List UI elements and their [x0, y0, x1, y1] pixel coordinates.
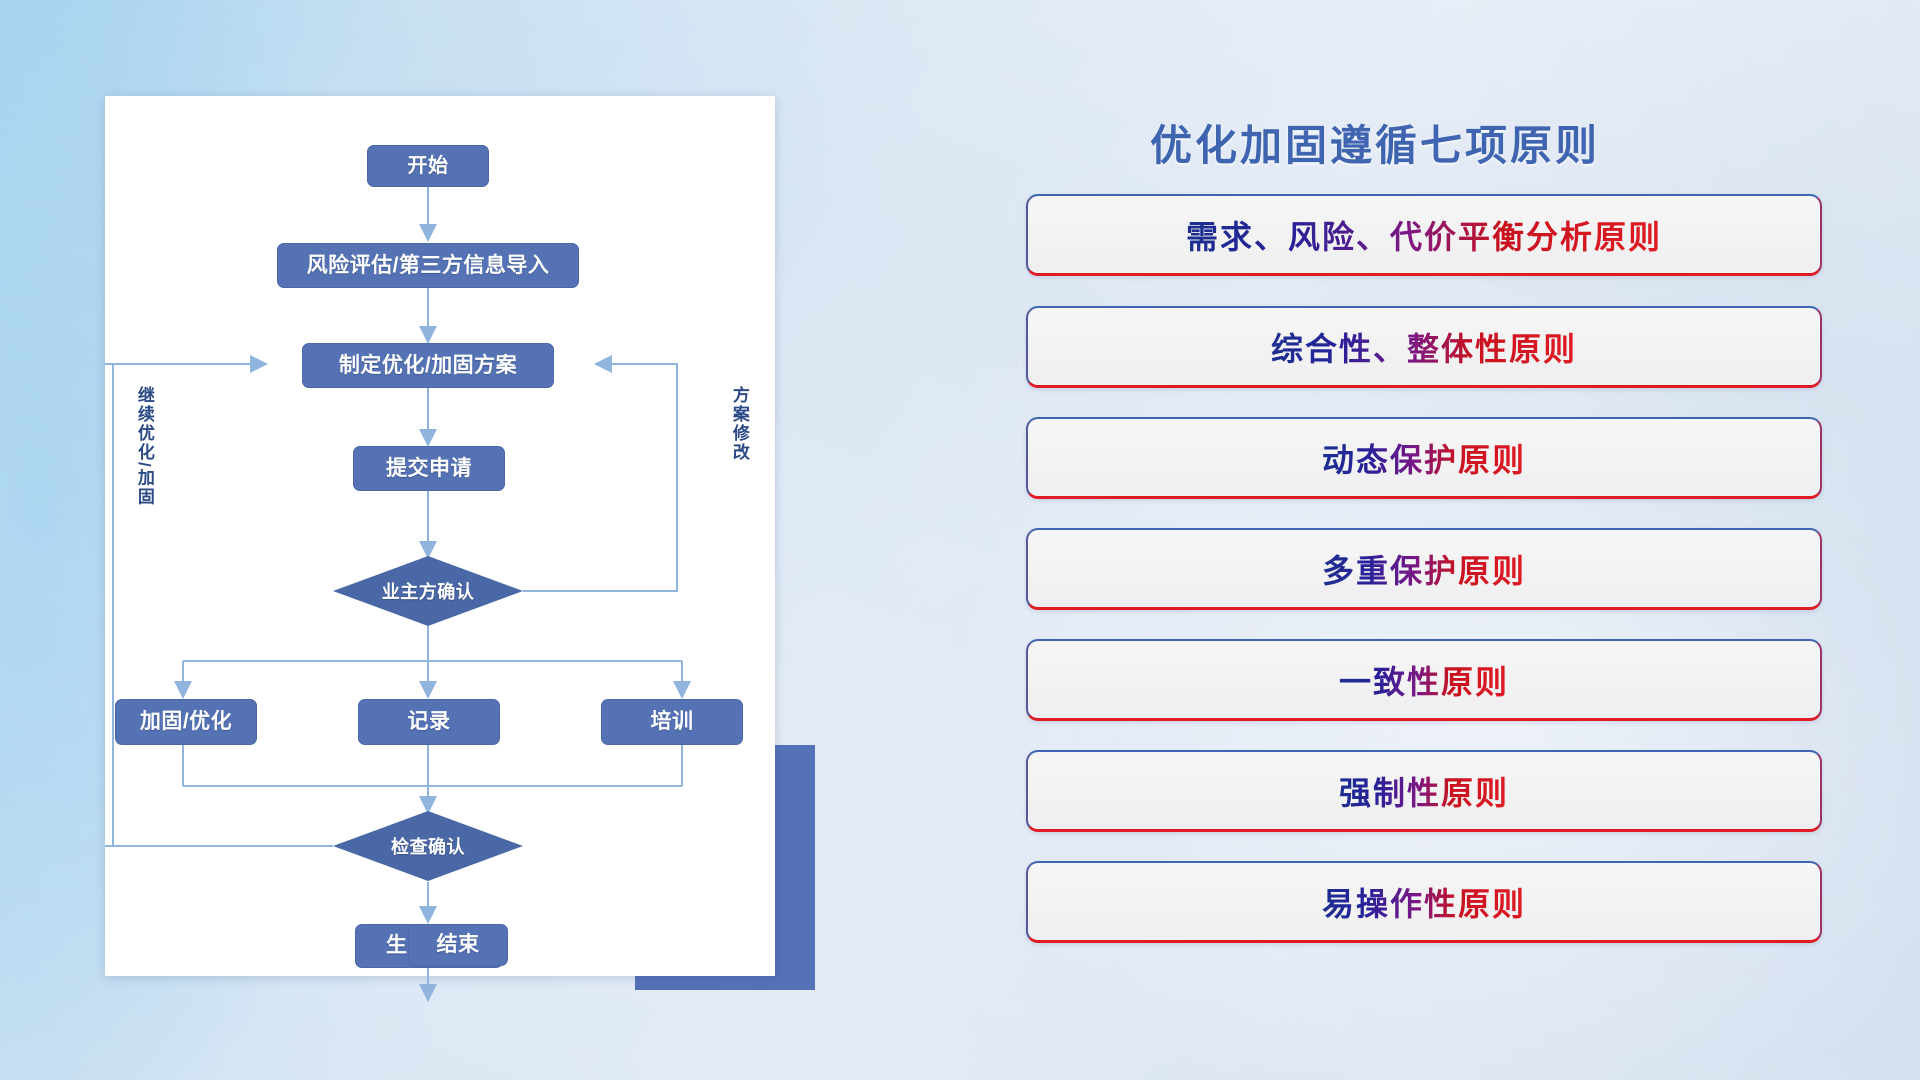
principles-panel: 优化加固遵循七项原则 需求、风险、代价平衡分析原则 综合性、整体性原则 动态保护…: [1020, 96, 1850, 1016]
flow-edge-label-left-loop-text: 继续优化/加固: [135, 386, 154, 507]
principle-card-label: 易操作性原则: [1322, 879, 1526, 925]
principle-card[interactable]: 动态保护原则: [1026, 417, 1822, 499]
flow-node-owner-confirm[interactable]: 业主方确认: [333, 556, 523, 626]
principle-card-label: 多重保护原则: [1322, 546, 1526, 592]
principle-card[interactable]: 易操作性原则: [1026, 861, 1822, 943]
principle-card-label: 强制性原则: [1339, 768, 1509, 814]
flow-node-plan[interactable]: 制定优化/加固方案: [302, 343, 554, 388]
principle-card[interactable]: 强制性原则: [1026, 750, 1822, 832]
flow-node-start-label: 开始: [408, 155, 449, 177]
flow-node-record-label: 记录: [408, 710, 451, 733]
principle-card-label: 一致性原则: [1339, 657, 1509, 703]
flow-node-reinforce[interactable]: 加固/优化: [115, 699, 257, 745]
flow-edge-label-right-loop-text: 方案修改: [730, 386, 749, 462]
principle-card-label: 需求、风险、代价平衡分析原则: [1186, 212, 1662, 258]
flow-node-check-confirm-label: 检查确认: [391, 833, 465, 859]
principle-card[interactable]: 一致性原则: [1026, 639, 1822, 721]
flow-node-end[interactable]: 结束: [408, 924, 508, 966]
principles-panel-title: 优化加固遵循七项原则: [1150, 112, 1600, 173]
flow-node-submit[interactable]: 提交申请: [353, 446, 505, 491]
principle-card-label: 动态保护原则: [1322, 435, 1526, 481]
flow-node-record[interactable]: 记录: [358, 699, 500, 745]
flow-node-end-label: 结束: [437, 933, 480, 956]
flowchart-card: 开始 风险评估/第三方信息导入 制定优化/加固方案 提交申请 业主方确认 加固/…: [105, 96, 775, 976]
principle-card-label: 综合性、整体性原则: [1271, 324, 1577, 370]
principle-card[interactable]: 需求、风险、代价平衡分析原则: [1026, 194, 1822, 276]
flow-edge-label-right-loop: 方案修改: [730, 386, 748, 516]
flow-node-risk-assessment-label: 风险评估/第三方信息导入: [307, 254, 550, 277]
flow-node-submit-label: 提交申请: [386, 457, 472, 480]
flow-node-owner-confirm-label: 业主方确认: [382, 578, 475, 604]
flow-node-reinforce-label: 加固/优化: [140, 710, 232, 733]
flow-node-training[interactable]: 培训: [601, 699, 743, 745]
flow-node-training-label: 培训: [651, 710, 694, 733]
flow-node-risk-assessment[interactable]: 风险评估/第三方信息导入: [277, 243, 579, 288]
flow-node-check-confirm[interactable]: 检查确认: [333, 811, 523, 881]
flow-edge-label-left-loop: 继续优化/加固: [135, 386, 153, 566]
principle-card[interactable]: 综合性、整体性原则: [1026, 306, 1822, 388]
flow-node-start[interactable]: 开始: [367, 145, 489, 187]
principle-card[interactable]: 多重保护原则: [1026, 528, 1822, 610]
flow-node-plan-label: 制定优化/加固方案: [339, 354, 517, 377]
